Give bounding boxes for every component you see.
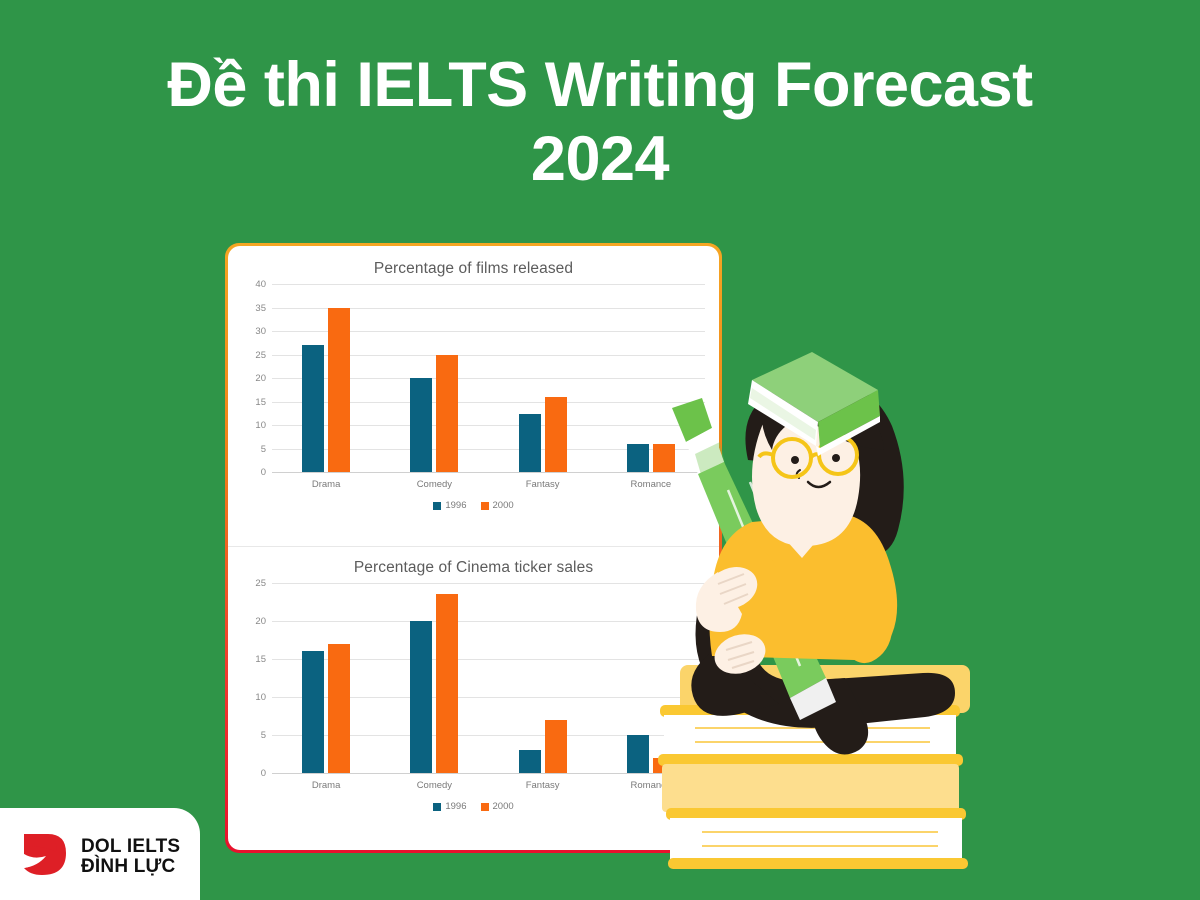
chart-1-ytick-label: 10 bbox=[240, 419, 266, 432]
chart-1-legend: 1996 2000 bbox=[242, 500, 705, 511]
chart-2-xlabel: Comedy bbox=[380, 780, 488, 791]
chart-2-group-comedy bbox=[410, 583, 458, 773]
bar-1996[interactable] bbox=[519, 414, 541, 472]
bar-1996[interactable] bbox=[302, 345, 324, 472]
chart-2-ytick-label: 25 bbox=[240, 577, 266, 590]
chart-1-ytick-label: 25 bbox=[240, 349, 266, 362]
bar-2000[interactable] bbox=[328, 308, 350, 473]
brand-logo-text: DOL IELTS ĐÌNH LỰC bbox=[81, 837, 180, 877]
chart-1-group-fantasy bbox=[519, 284, 567, 472]
chart-2-group-drama bbox=[302, 583, 350, 773]
chart-1-group-drama bbox=[302, 284, 350, 472]
page-title: Đề thi IELTS Writing Forecast 2024 bbox=[0, 48, 1200, 197]
chart-1-legend-item-1996[interactable]: 1996 bbox=[433, 500, 466, 511]
chart-2-ytick-label: 10 bbox=[240, 691, 266, 704]
bar-2000[interactable] bbox=[436, 594, 458, 773]
brand-logo-plate: DOL IELTS ĐÌNH LỰC bbox=[0, 808, 200, 900]
legend-label: 2000 bbox=[493, 500, 514, 511]
chart-1-xlabel: Fantasy bbox=[489, 479, 597, 490]
chart-2-legend: 1996 2000 bbox=[242, 801, 705, 812]
brand-logo[interactable]: DOL IELTS ĐÌNH LỰC bbox=[18, 828, 180, 885]
chart-1-ytick-label: 20 bbox=[240, 372, 266, 385]
chart-1-ytick-label: 15 bbox=[240, 396, 266, 409]
chart-1-ytick-label: 30 bbox=[240, 325, 266, 338]
bar-2000[interactable] bbox=[436, 355, 458, 473]
chart-1-title: Percentage of films released bbox=[242, 260, 705, 278]
dol-swoosh-logo-icon bbox=[18, 828, 70, 885]
chart-2-legend-item-2000[interactable]: 2000 bbox=[481, 801, 514, 812]
legend-swatch-icon bbox=[433, 803, 441, 811]
chart-1-group-comedy bbox=[410, 284, 458, 472]
chart-2-xlabel: Fantasy bbox=[489, 780, 597, 791]
legend-label: 1996 bbox=[445, 801, 466, 812]
chart-1-legend-item-2000[interactable]: 2000 bbox=[481, 500, 514, 511]
chart-2-xlabel: Drama bbox=[272, 780, 380, 791]
legend-swatch-icon bbox=[433, 502, 441, 510]
bar-2000[interactable] bbox=[545, 397, 567, 472]
chart-1-ytick-label: 40 bbox=[240, 278, 266, 291]
bar-2000[interactable] bbox=[328, 644, 350, 773]
bar-1996[interactable] bbox=[410, 378, 432, 472]
chart-1-xlabel: Comedy bbox=[380, 479, 488, 490]
chart-1-ytick-label: 5 bbox=[240, 443, 266, 456]
chart-2-title: Percentage of Cinema ticker sales bbox=[242, 559, 705, 577]
chart-2-ytick-label: 5 bbox=[240, 729, 266, 742]
chart-2-ytick-label: 0 bbox=[240, 767, 266, 780]
chart-2-ytick-label: 20 bbox=[240, 615, 266, 628]
chart-1-ytick-label: 35 bbox=[240, 302, 266, 315]
brand-line-2: ĐÌNH LỰC bbox=[81, 857, 180, 877]
legend-swatch-icon bbox=[481, 803, 489, 811]
legend-label: 2000 bbox=[493, 801, 514, 812]
bar-1996[interactable] bbox=[519, 750, 541, 773]
chart-2-ytick-label: 15 bbox=[240, 653, 266, 666]
legend-label: 1996 bbox=[445, 500, 466, 511]
chart-1-xlabel: Drama bbox=[272, 479, 380, 490]
student-illustration bbox=[640, 350, 1000, 900]
brand-line-1: DOL IELTS bbox=[81, 837, 180, 857]
chart-2-legend-item-1996[interactable]: 1996 bbox=[433, 801, 466, 812]
page-title-line-1: Đề thi IELTS Writing Forecast bbox=[0, 48, 1200, 122]
chart-1-ytick-label: 0 bbox=[240, 466, 266, 479]
legend-swatch-icon bbox=[481, 502, 489, 510]
bar-1996[interactable] bbox=[410, 621, 432, 773]
chart-2-group-fantasy bbox=[519, 583, 567, 773]
bar-1996[interactable] bbox=[302, 651, 324, 773]
bar-2000[interactable] bbox=[545, 720, 567, 773]
page-title-line-2: 2024 bbox=[0, 122, 1200, 196]
